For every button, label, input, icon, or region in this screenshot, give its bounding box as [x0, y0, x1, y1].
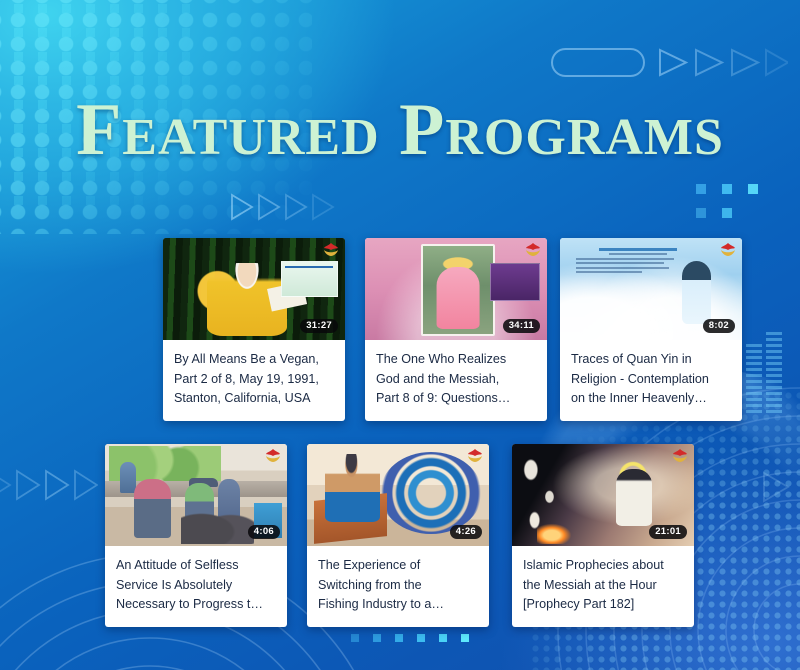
program-card[interactable]: 34:11 The One Who Realizes God and the M… — [365, 238, 547, 421]
play-triangle-outline-1 — [0, 471, 10, 499]
duration-badge: 4:26 — [450, 525, 482, 540]
rounded-pill-outline — [552, 49, 644, 76]
play-triangle-outline-3 — [46, 471, 68, 499]
program-card[interactable]: 21:01 Islamic Prophecies about the Messi… — [512, 444, 694, 627]
arrow-mid-right — [762, 470, 796, 504]
square-dots-right — [694, 182, 782, 224]
channel-logo-icon — [466, 448, 484, 464]
play-triangle-outline-3 — [286, 195, 306, 219]
play-triangle-outline-2 — [17, 471, 39, 499]
play-triangle-outline-2 — [259, 195, 279, 219]
play-triangle-outline-2 — [696, 50, 722, 75]
play-triangle-outline-1 — [660, 50, 686, 75]
program-thumbnail[interactable]: 4:06 — [105, 444, 287, 546]
program-title: By All Means Be a Vegan, Part 2 of 8, Ma… — [163, 340, 345, 421]
program-card[interactable]: 4:06 An Attitude of Selfless Service Is … — [105, 444, 287, 627]
play-triangle-outline-1 — [764, 473, 788, 501]
channel-logo-icon — [524, 242, 542, 258]
program-title: Islamic Prophecies about the Messiah at … — [512, 546, 694, 627]
program-title: An Attitude of Selfless Service Is Absol… — [105, 546, 287, 627]
channel-logo-icon — [322, 242, 340, 258]
pill-and-arrows-top-right — [536, 42, 788, 84]
play-triangle-outline-3 — [732, 50, 758, 75]
channel-logo-icon — [719, 242, 737, 258]
channel-logo-icon — [671, 448, 689, 464]
play-triangle-outline-4 — [75, 471, 97, 499]
page-title: Featured Programs — [0, 93, 800, 167]
program-title: Traces of Quan Yin in Religion - Contemp… — [560, 340, 742, 421]
arrows-mid-left — [0, 468, 98, 502]
duration-badge: 8:02 — [703, 319, 735, 334]
duration-badge: 4:06 — [248, 525, 280, 540]
featured-programs-banner: Featured Programs 31:27 By All Means Be … — [0, 0, 800, 670]
program-title: The Experience of Switching from the Fis… — [307, 546, 489, 627]
play-triangle-outline-1 — [232, 195, 252, 219]
duration-badge: 31:27 — [300, 319, 338, 334]
duration-badge: 34:11 — [503, 319, 540, 334]
play-triangle-outline-4 — [313, 195, 333, 219]
program-card[interactable]: 8:02 Traces of Quan Yin in Religion - Co… — [560, 238, 742, 421]
program-thumbnail[interactable]: 34:11 — [365, 238, 547, 340]
channel-logo-icon — [264, 448, 282, 464]
arrows-under-title — [230, 192, 340, 222]
program-card[interactable]: 31:27 By All Means Be a Vegan, Part 2 of… — [163, 238, 345, 421]
program-title: The One Who Realizes God and the Messiah… — [365, 340, 547, 421]
program-thumbnail[interactable]: 31:27 — [163, 238, 345, 340]
program-thumbnail[interactable]: 4:26 — [307, 444, 489, 546]
program-card[interactable]: 4:26 The Experience of Switching from th… — [307, 444, 489, 627]
play-triangle-outline-4 — [766, 50, 788, 75]
program-thumbnail[interactable]: 21:01 — [512, 444, 694, 546]
duration-badge: 21:01 — [649, 525, 687, 540]
program-thumbnail[interactable]: 8:02 — [560, 238, 742, 340]
